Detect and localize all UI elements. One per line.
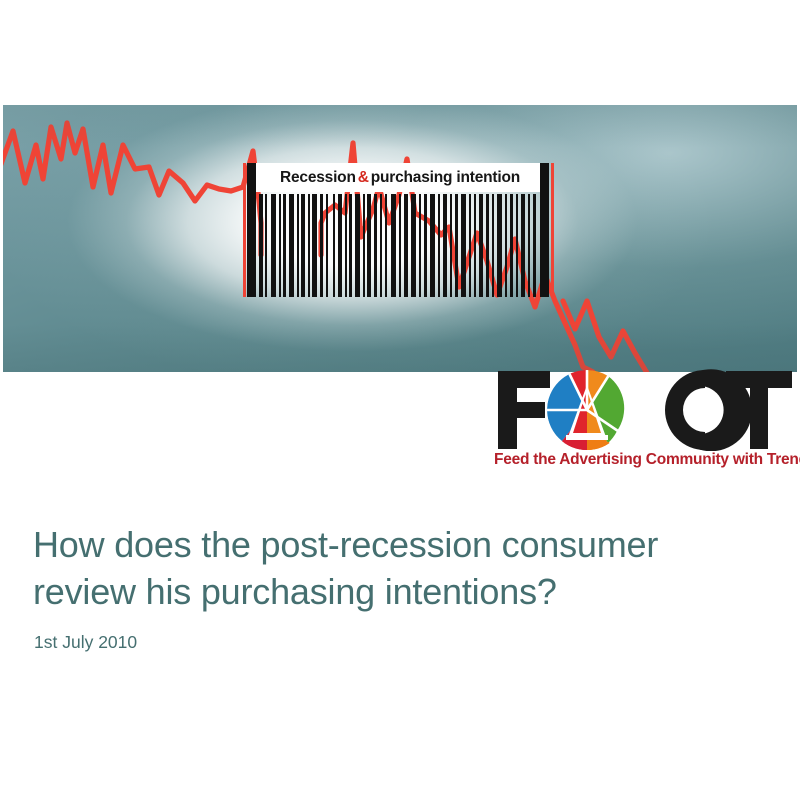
barcode-label-suffix: purchasing intention xyxy=(371,169,520,187)
logo-letter-f xyxy=(498,371,550,449)
barcode-label-prefix: Recession xyxy=(280,169,356,187)
slide-date: 1st July 2010 xyxy=(34,631,763,653)
fact-wordmark-svg xyxy=(490,369,796,451)
page-title: How does the post-recession consumer rev… xyxy=(33,521,763,615)
fact-logo-tagline: Feed the Advertising Community with Tren… xyxy=(494,451,794,469)
barcode-right-red-guard xyxy=(551,163,554,297)
logo-letter-c-shape xyxy=(665,370,705,450)
trend-line-tail xyxy=(563,301,647,372)
trend-line-left xyxy=(3,123,261,255)
slide-root: Recession & purchasing intention xyxy=(0,0,800,800)
barcode-graphic: Recession & purchasing intention xyxy=(243,163,557,297)
fact-logo: Feed the Advertising Community with Tren… xyxy=(490,369,796,479)
barcode-right-black-guard xyxy=(540,163,549,297)
barcode-bar-field xyxy=(259,194,536,297)
barcode-left-black-guard xyxy=(247,163,256,297)
barcode-label-text: Recession & purchasing intention xyxy=(261,166,539,190)
barcode-left-red-guard xyxy=(243,163,246,297)
barcode-label-ampersand: & xyxy=(358,169,369,187)
headline-block: How does the post-recession consumer rev… xyxy=(33,521,763,653)
fact-logo-mark xyxy=(490,369,796,451)
